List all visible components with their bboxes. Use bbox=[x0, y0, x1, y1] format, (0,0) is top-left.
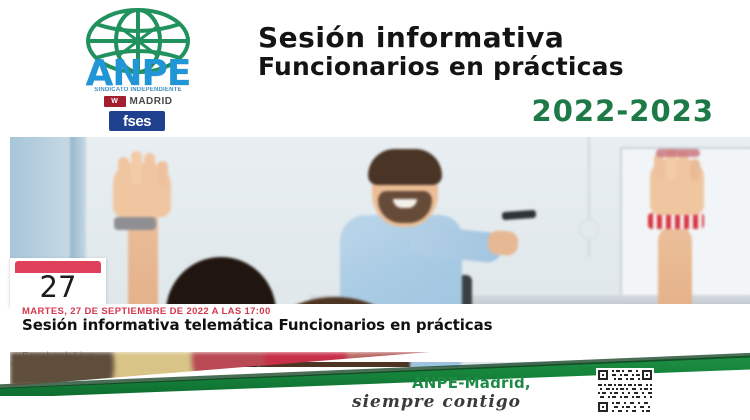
photo-student3-nails bbox=[656, 149, 700, 157]
madrid-shield-icon: W bbox=[104, 96, 126, 107]
poster-title-primary: Sesión informativa bbox=[258, 22, 728, 53]
photo-wall-knob bbox=[579, 219, 599, 239]
madrid-row: W MADRID bbox=[70, 94, 206, 108]
event-title: Sesión informativa telemática Funcionari… bbox=[22, 317, 642, 334]
poster-header: ANPE SINDICATO INDEPENDIENTE W MADRID fs… bbox=[0, 0, 750, 134]
photo-student1-finger bbox=[144, 153, 155, 185]
slogan-secondary: siempre contigo bbox=[352, 392, 521, 412]
poster-canvas: ANPE SINDICATO INDEPENDIENTE W MADRID fs… bbox=[0, 0, 750, 420]
photo-teacher-hair bbox=[368, 149, 442, 185]
madrid-label: MADRID bbox=[130, 96, 173, 107]
qr-code-icon[interactable] bbox=[596, 368, 654, 414]
photo-student1-finger bbox=[131, 151, 142, 185]
fses-badge: fses bbox=[109, 111, 165, 131]
photo-student1-finger bbox=[157, 161, 168, 187]
photo-teacher-hand bbox=[487, 230, 519, 256]
poster-title-block: Sesión informativa Funcionarios en práct… bbox=[258, 22, 728, 128]
photo-student3-wristband bbox=[648, 213, 704, 229]
poster-footer: ANPE-Madrid, siempre contigo bbox=[0, 396, 750, 420]
photo-student3-finger bbox=[690, 159, 700, 181]
photo-cable bbox=[588, 137, 590, 257]
anpe-subtitle: SINDICATO INDEPENDIENTE bbox=[70, 87, 206, 93]
poster-title-secondary: Funcionarios en prácticas bbox=[258, 53, 728, 82]
calendar-badge: 27 bbox=[10, 258, 106, 307]
fses-label: fses bbox=[123, 114, 151, 129]
slogan-primary: ANPE-Madrid, bbox=[412, 374, 531, 392]
anpe-logo: ANPE SINDICATO INDEPENDIENTE W MADRID fs… bbox=[62, 8, 212, 130]
photo-student1-watch bbox=[114, 217, 156, 230]
photo-student1-finger bbox=[118, 157, 129, 185]
calendar-day-number: 27 bbox=[10, 273, 106, 302]
poster-school-year: 2022-2023 bbox=[258, 94, 728, 128]
